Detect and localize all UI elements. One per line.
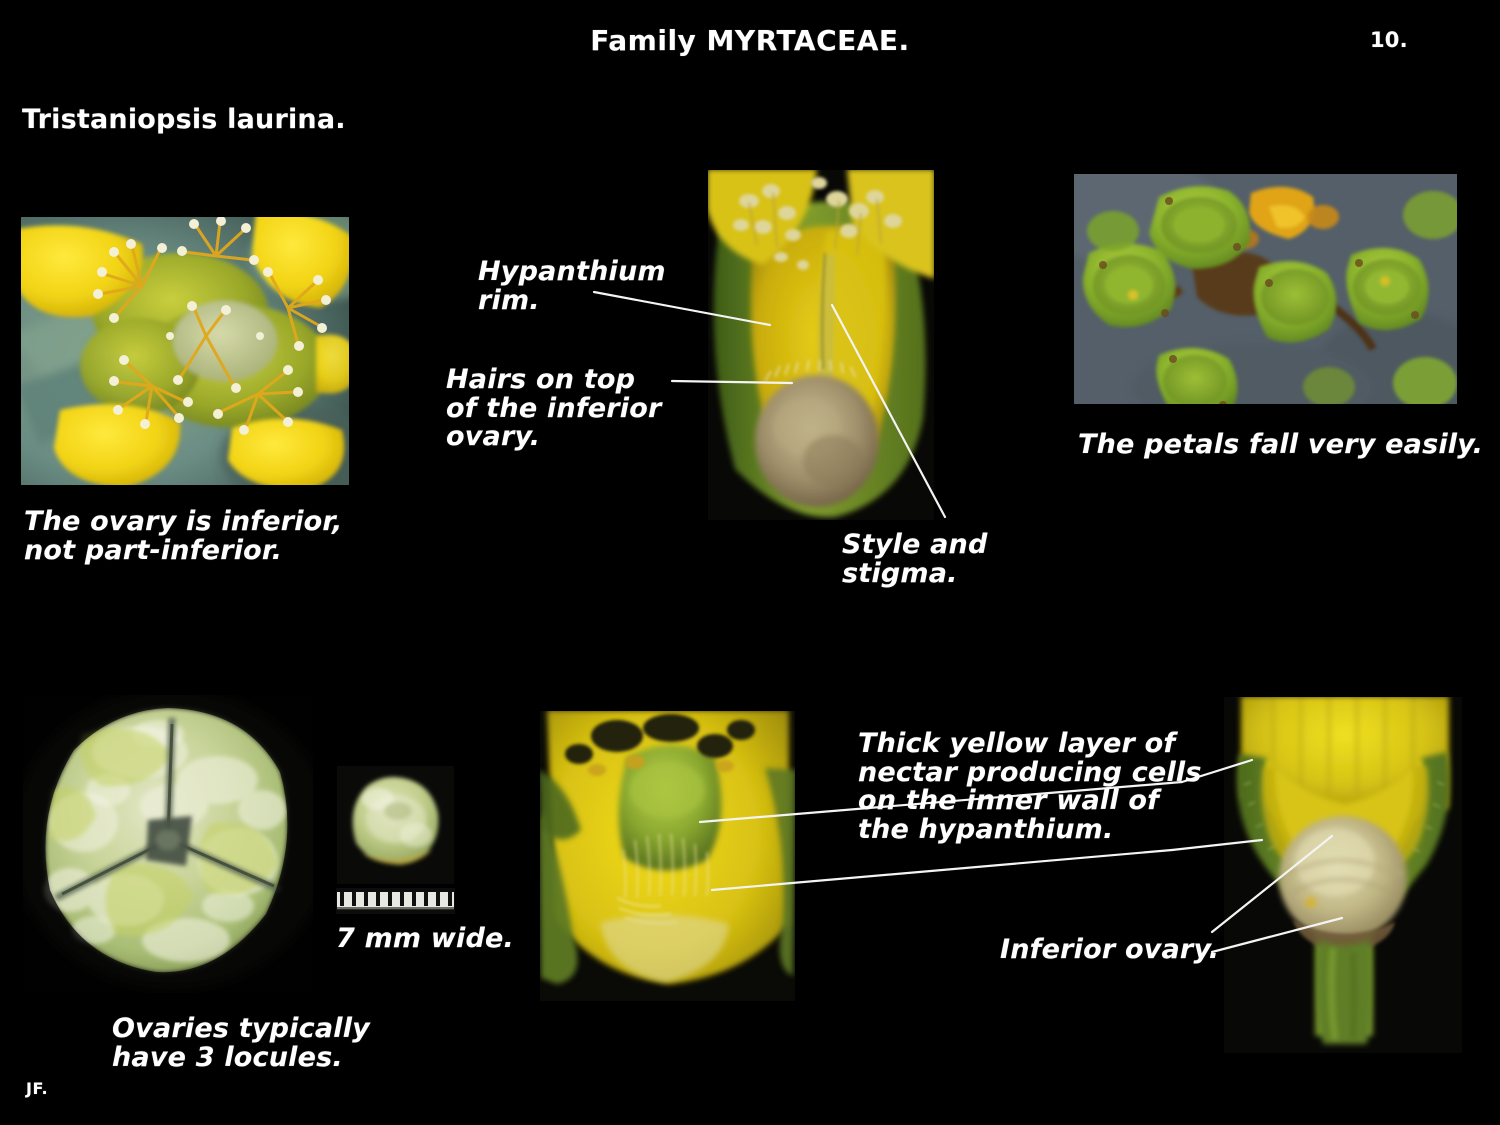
caption-ovary-inferior: The ovary is inferior, not part-inferior…	[24, 508, 342, 565]
species-name: Tristaniopsis laurina.	[22, 106, 346, 135]
fallen-petals-photo	[1073, 173, 1458, 405]
label-hairs-on-ovary: Hairs on top of the inferior ovary.	[446, 366, 662, 452]
label-style-and-stigma: Style and stigma.	[842, 531, 988, 588]
inferior-ovary-section-photo	[1223, 696, 1463, 1054]
slide-canvas: Family MYRTACEAE. 10. Tristaniopsis laur…	[0, 0, 1500, 1125]
caption-scale-width: 7 mm wide.	[336, 925, 514, 954]
flower-bud-section-photo	[707, 169, 935, 521]
page-title: Family MYRTACEAE.	[0, 26, 1500, 56]
yellow-flowers-photo	[20, 216, 350, 486]
caption-petals-fall: The petals fall very easily.	[1078, 431, 1483, 460]
small-ovary-photo	[336, 765, 455, 885]
author-signature: JF.	[26, 1081, 48, 1098]
ovary-cross-section-photo	[22, 694, 314, 994]
millimetre-scale-bar	[336, 888, 455, 914]
page-number: 10.	[1370, 29, 1450, 51]
label-hypanthium-rim: Hypanthium rim.	[478, 258, 666, 315]
hypanthium-nectar-layer-photo	[539, 710, 796, 1002]
caption-locules: Ovaries typically have 3 locules.	[112, 1015, 370, 1072]
label-nectar-layer: Thick yellow layer of nectar producing c…	[858, 730, 1202, 844]
label-inferior-ovary: Inferior ovary.	[1000, 936, 1219, 965]
